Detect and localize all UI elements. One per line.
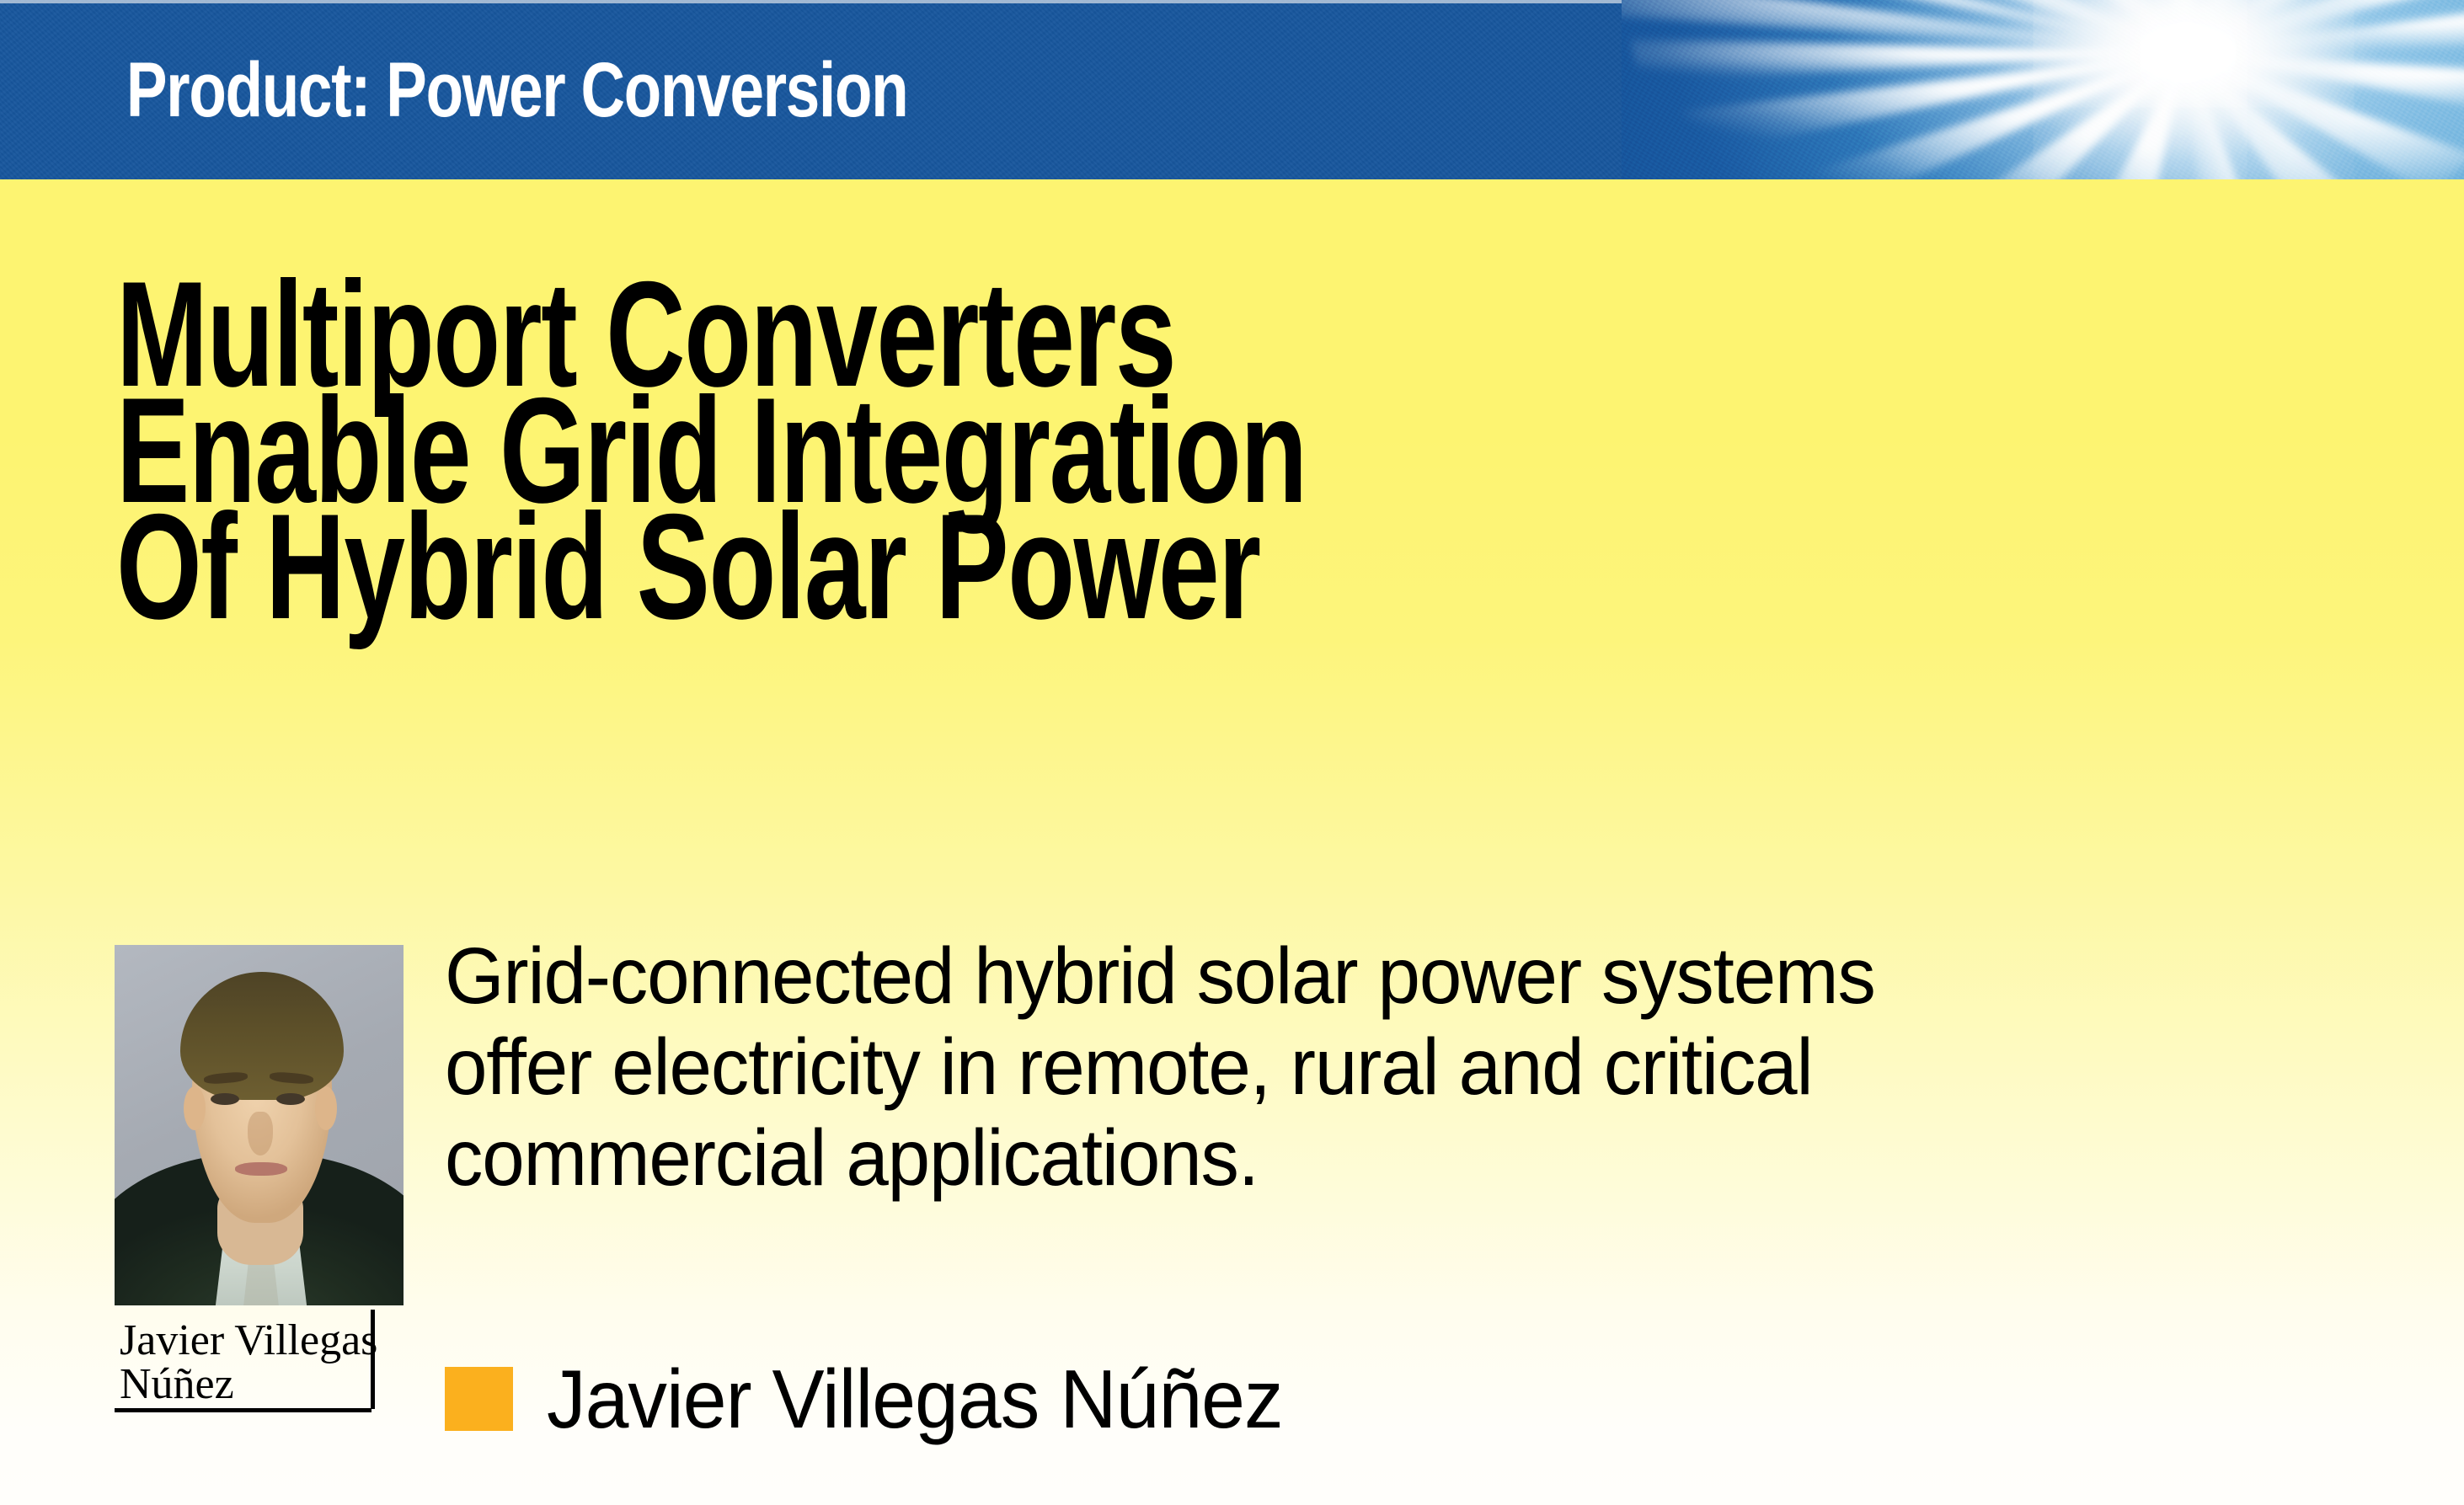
photo-mouth [235, 1162, 287, 1176]
photo-ear-left [184, 1086, 206, 1130]
portrait-caption-block: Javier Villegas Núñez [115, 1305, 405, 1406]
print-grain-overlay [1622, 0, 2464, 179]
author-portrait-block: Javier Villegas Núñez [115, 945, 405, 1406]
caption-horizontal-rule [115, 1408, 371, 1412]
photo-nose [248, 1112, 273, 1155]
article-opener-page: Product: Power Conversion Multiport Conv… [0, 0, 2464, 1505]
caption-vertical-rule [371, 1310, 375, 1409]
photo-ear-right [315, 1086, 337, 1130]
photo-eye-right [276, 1093, 305, 1105]
byline-square-icon [445, 1367, 513, 1431]
avatar [115, 945, 404, 1305]
kicker-banner: Product: Power Conversion [0, 0, 2464, 179]
portrait-caption: Javier Villegas Núñez [120, 1319, 405, 1406]
headline-line-3: Of Hybrid Solar Power [116, 510, 1541, 623]
page-title: Multiport Converters Enable Grid Integra… [116, 278, 2054, 627]
photo-eye-left [211, 1093, 239, 1105]
kicker-label: Product: Power Conversion [126, 19, 907, 162]
sunburst-icon [1622, 0, 2464, 179]
deck-text: Grid-connected hybrid solar power system… [445, 931, 2279, 1203]
byline: Javier Villegas Núñez [445, 1358, 1322, 1440]
byline-author-name: Javier Villegas Núñez [547, 1358, 1283, 1440]
